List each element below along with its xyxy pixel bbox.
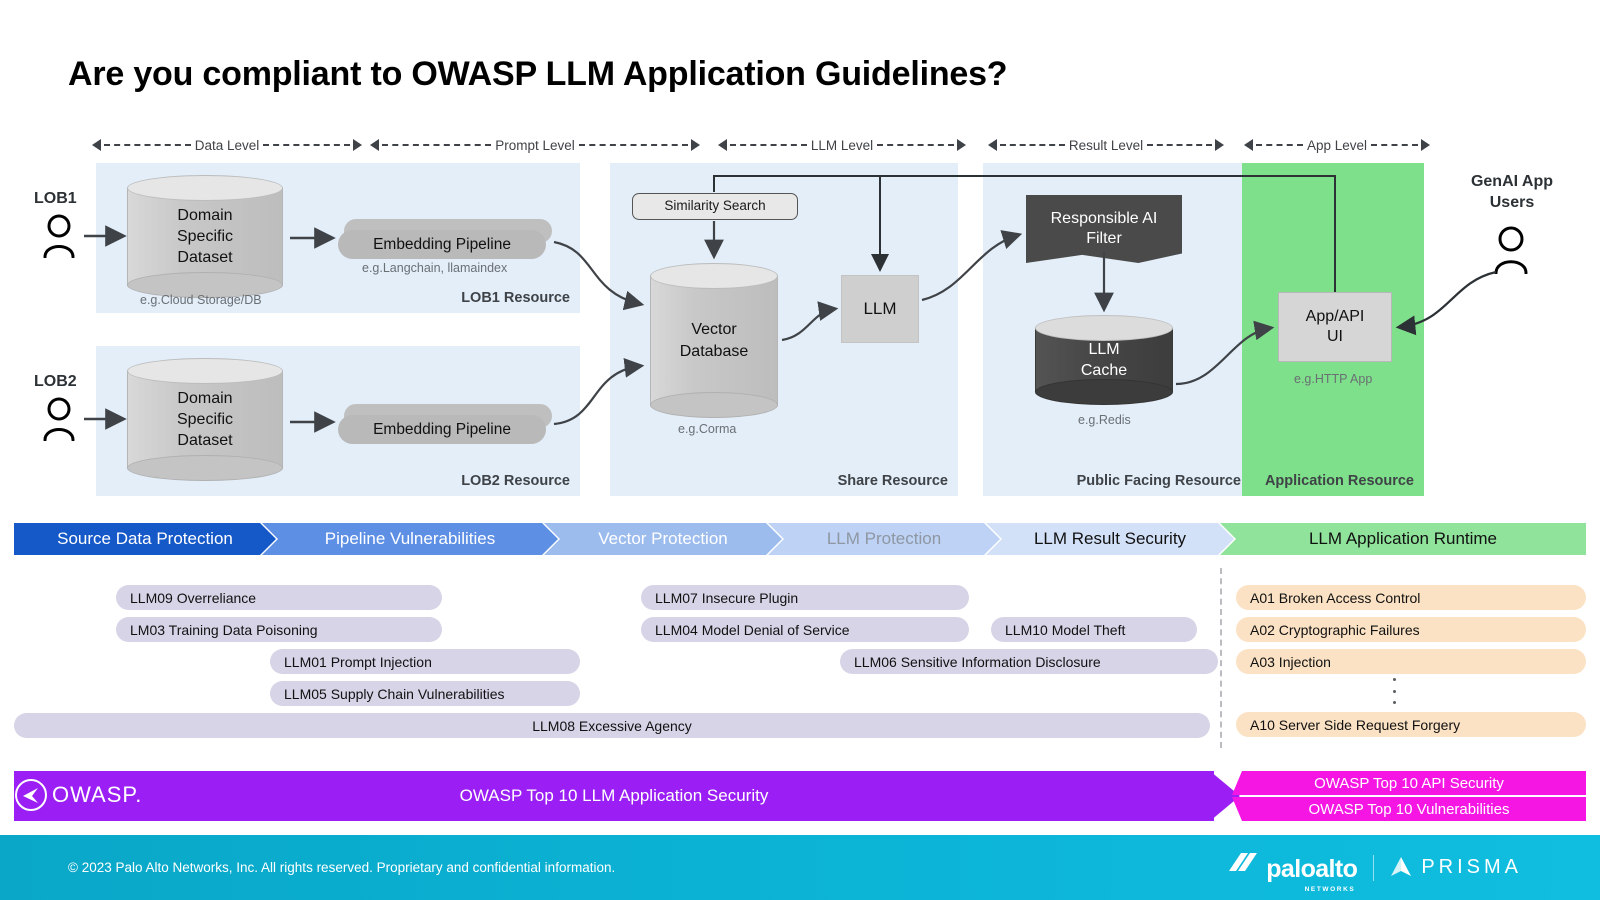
arrow-left-icon — [988, 139, 997, 151]
caption-vector-database: e.g.Corma — [678, 422, 736, 436]
node-label: Vector Database — [650, 263, 778, 418]
dot — [1393, 701, 1396, 704]
dataset-line1: Domain — [177, 388, 232, 409]
pill-llm05-supply-chain-vulnerabilities[interactable]: LLM05 Supply Chain Vulnerabilities — [270, 681, 580, 706]
page-title: Are you compliant to OWASP LLM Applicati… — [68, 55, 1007, 94]
prisma-mark-icon — [1390, 856, 1412, 880]
arrow-right-icon — [691, 139, 700, 151]
level-ruler-prompt: Prompt Level — [370, 136, 700, 154]
node-responsible-ai-filter: Responsible AI Filter — [1026, 195, 1182, 263]
node-label: LLM Cache — [1035, 315, 1173, 405]
section-divider — [1220, 568, 1222, 748]
pill-llm01-prompt-injection[interactable]: LLM01 Prompt Injection — [270, 649, 580, 674]
level-label: Prompt Level — [494, 138, 576, 153]
dashed-line — [263, 144, 350, 146]
actor-label-lob2: LOB2 — [34, 373, 77, 391]
paloalto-logo: paloalto NETWORKS — [1225, 851, 1357, 884]
vertical-ellipsis-icon — [1384, 678, 1404, 704]
panel-label: Application Resource — [1265, 473, 1414, 489]
user-icon-lob1 — [40, 214, 78, 258]
chevron-llm-protection[interactable]: LLM Protection — [768, 523, 1000, 555]
actor-label-lob1: LOB1 — [34, 190, 77, 208]
dashed-line — [730, 144, 807, 146]
level-label: Data Level — [194, 138, 261, 153]
panel-label: LOB2 Resource — [461, 473, 570, 489]
dashed-line — [579, 144, 688, 146]
level-ruler-llm: LLM Level — [718, 136, 966, 154]
caption-embedding-pipeline-lob1: e.g.Langchain, llamaindex — [362, 261, 507, 275]
pill-llm06-sensitive-information-disclosure[interactable]: LLM06 Sensitive Information Disclosure — [840, 649, 1218, 674]
node-dataset-lob1: Domain Specific Dataset — [127, 175, 283, 298]
chevron-llm-application-runtime[interactable]: LLM Application Runtime — [1220, 523, 1586, 555]
owasp-band-arrow-tip — [1210, 771, 1240, 821]
dataset-line2: Specific — [177, 409, 233, 430]
arrow-right-icon — [1421, 139, 1430, 151]
pill-llm10-model-theft[interactable]: LLM10 Model Theft — [991, 617, 1197, 642]
pill-llm07-insecure-plugin[interactable]: LLM07 Insecure Plugin — [641, 585, 969, 610]
actor-label-genai-users: GenAI App Users — [1452, 172, 1572, 214]
node-label: Domain Specific Dataset — [127, 175, 283, 298]
panel-label: LOB1 Resource — [461, 290, 570, 306]
dashed-line — [1000, 144, 1065, 146]
arrow-right-icon — [1215, 139, 1224, 151]
protection-stage-band: Source Data Protection Pipeline Vulnerab… — [14, 523, 1586, 555]
dashed-line — [877, 144, 954, 146]
arrow-left-icon — [370, 139, 379, 151]
level-ruler-data: Data Level — [92, 136, 362, 154]
pill-a01-broken-access-control[interactable]: A01 Broken Access Control — [1236, 585, 1586, 610]
owasp-vulnerabilities-band: OWASP Top 10 Vulnerabilities — [1232, 797, 1586, 821]
node-embedding-pipeline-lob1: Embedding Pipeline — [338, 219, 552, 259]
user-icon-genai — [1491, 226, 1531, 274]
paloalto-wordmark: paloalto NETWORKS — [1266, 855, 1357, 884]
chevron-source-data-protection[interactable]: Source Data Protection — [14, 523, 276, 555]
node-llm-cache: LLM Cache — [1035, 315, 1173, 405]
pipeline-front: Embedding Pipeline — [338, 415, 546, 444]
footer-copyright: © 2023 Palo Alto Networks, Inc. All righ… — [68, 860, 615, 875]
dataset-line1: Domain — [177, 205, 232, 226]
genai-users-line1: GenAI App — [1471, 173, 1553, 190]
pill-llm04-model-denial-of-service[interactable]: LLM04 Model Denial of Service — [641, 617, 969, 642]
arrow-right-icon — [957, 139, 966, 151]
paloalto-wordmark-text: paloalto — [1266, 855, 1357, 883]
owasp-llm-band: OWASP Top 10 LLM Application Security — [14, 771, 1214, 821]
appui-line2: UI — [1327, 327, 1343, 347]
dashed-line — [1256, 144, 1303, 146]
pill-a03-injection[interactable]: A03 Injection — [1236, 649, 1586, 674]
pipeline-front: Embedding Pipeline — [338, 230, 546, 259]
dashed-line — [1371, 144, 1418, 146]
arrow-right-icon — [353, 139, 362, 151]
panel-label: Share Resource — [838, 473, 948, 489]
level-label: Result Level — [1068, 138, 1144, 153]
prisma-wordmark: PRISMA — [1421, 856, 1522, 879]
arrow-left-icon — [718, 139, 727, 151]
level-label: LLM Level — [810, 138, 874, 153]
prisma-logo: PRISMA — [1390, 856, 1522, 880]
dataset-line3: Dataset — [177, 430, 232, 451]
pill-a02-cryptographic-failures[interactable]: A02 Cryptographic Failures — [1236, 617, 1586, 642]
llmcache-line1: LLM — [1088, 339, 1119, 360]
arrow-left-icon — [92, 139, 101, 151]
panel-label: Public Facing Resource — [1077, 473, 1241, 489]
chevron-pipeline-vulnerabilities[interactable]: Pipeline Vulnerabilities — [262, 523, 558, 555]
dashed-line — [382, 144, 491, 146]
chevron-vector-protection[interactable]: Vector Protection — [544, 523, 782, 555]
owasp-mark-icon — [14, 778, 48, 812]
node-embedding-pipeline-lob2: Embedding Pipeline — [338, 404, 552, 444]
dashed-line — [104, 144, 191, 146]
dataset-line2: Specific — [177, 226, 233, 247]
caption-llm-cache: e.g.Redis — [1078, 413, 1131, 427]
footer-bar: © 2023 Palo Alto Networks, Inc. All righ… — [0, 835, 1600, 900]
node-similarity-search[interactable]: Similarity Search — [632, 193, 798, 220]
owasp-api-band: OWASP Top 10 API Security — [1232, 771, 1586, 795]
appui-line1: App/API — [1306, 307, 1365, 327]
vectordb-line1: Vector — [691, 319, 736, 340]
paloalto-mark-icon — [1225, 851, 1259, 877]
rai-line1: Responsible AI — [1051, 209, 1158, 229]
llmcache-line2: Cache — [1081, 360, 1127, 381]
dataset-line3: Dataset — [177, 247, 232, 268]
user-icon-lob2 — [40, 397, 78, 441]
chevron-llm-result-security[interactable]: LLM Result Security — [986, 523, 1234, 555]
arrow-left-icon — [1244, 139, 1253, 151]
node-vector-database: Vector Database — [650, 263, 778, 418]
node-app-api-ui: App/API UI — [1278, 292, 1392, 362]
genai-users-line2: Users — [1490, 194, 1534, 211]
slide-canvas: Are you compliant to OWASP LLM Applicati… — [0, 0, 1600, 900]
pill-lm03-training-data-poisoning[interactable]: LM03 Training Data Poisoning — [116, 617, 442, 642]
owasp-band-label: OWASP Top 10 LLM Application Security — [14, 786, 1214, 806]
node-dataset-lob2: Domain Specific Dataset — [127, 358, 283, 481]
footer-brand-lockups: paloalto NETWORKS PRISMA — [1225, 851, 1522, 884]
caption-app-api-ui: e.g.HTTP App — [1294, 372, 1372, 386]
level-ruler-result: Result Level — [988, 136, 1224, 154]
dot — [1393, 678, 1396, 681]
pill-llm09-overreliance[interactable]: LLM09 Overreliance — [116, 585, 442, 610]
rai-line2: Filter — [1086, 229, 1122, 249]
dot — [1393, 690, 1396, 693]
vectordb-line2: Database — [680, 341, 749, 362]
node-llm: LLM — [841, 275, 919, 343]
pill-llm08-excessive-agency[interactable]: LLM08 Excessive Agency — [14, 713, 1210, 738]
level-label: App Level — [1306, 138, 1368, 153]
owasp-wordmark: OWASP. — [52, 782, 142, 808]
paloalto-networks-subtext: NETWORKS — [1305, 886, 1356, 893]
owasp-logo: OWASP. — [14, 778, 142, 812]
level-ruler-app: App Level — [1244, 136, 1430, 154]
brand-divider — [1373, 855, 1374, 881]
pill-a10-server-side-request-forgery[interactable]: A10 Server Side Request Forgery — [1236, 712, 1586, 737]
dashed-line — [1147, 144, 1212, 146]
node-label: Domain Specific Dataset — [127, 358, 283, 481]
